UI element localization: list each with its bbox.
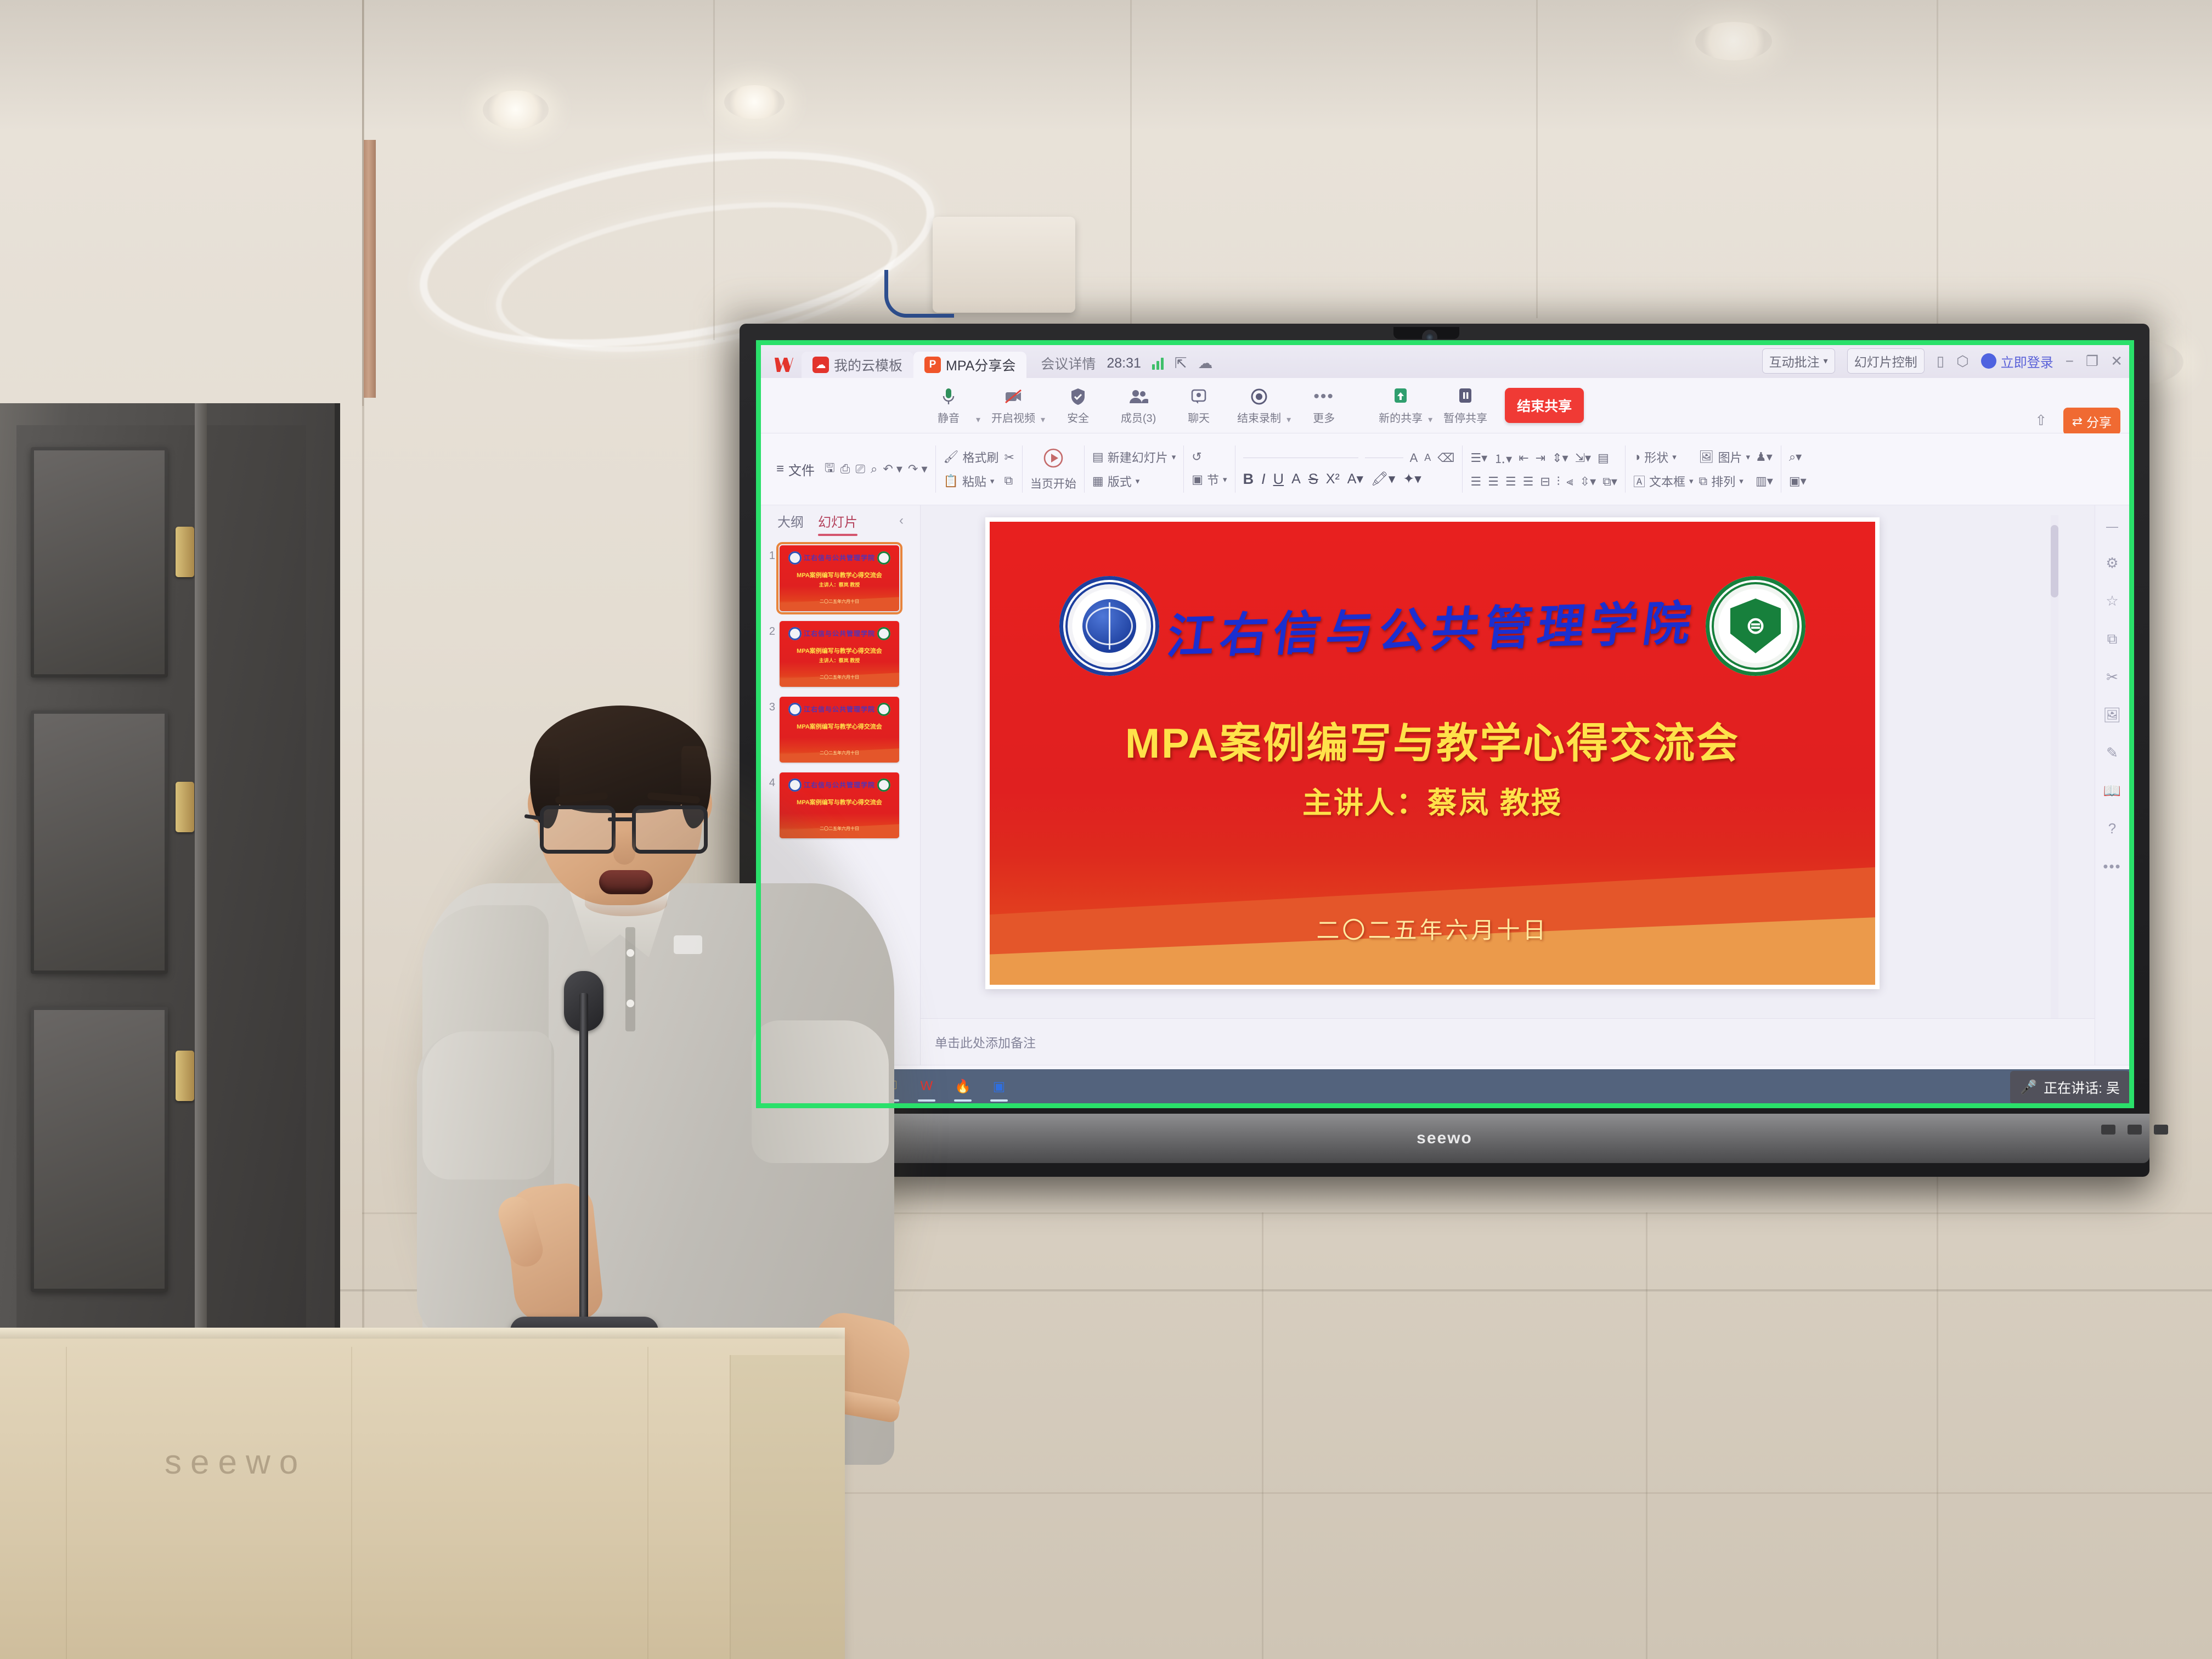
titlebar-right-controls: 互动批注 ▾ 幻灯片控制 ▯ ⬡ 立即登录 − ❐ ✕ bbox=[1762, 348, 2123, 374]
thumbnail-number: 2 bbox=[763, 621, 775, 638]
shape-label: 形状 bbox=[1644, 448, 1668, 466]
reset-icon[interactable]: ↺ bbox=[1192, 450, 1227, 464]
mini-school-name: 江右信与公共管理学院 bbox=[804, 553, 875, 562]
wall-trim-strip bbox=[364, 140, 376, 398]
chevron-down-icon: ▾ bbox=[1739, 476, 1743, 486]
chevron-down-icon: ▾ bbox=[1136, 476, 1140, 486]
mini-slide: 江右信与公共管理学院 MPA案例编写与教学心得交流会 二〇二五年六月十日 bbox=[780, 697, 899, 763]
vertical-scrollbar-thumb[interactable] bbox=[2051, 525, 2058, 597]
ceiling-downlight-4 bbox=[1695, 22, 1772, 60]
speaking-indicator-tooltip: 🎤 正在讲话: 吴 bbox=[2010, 1071, 2130, 1104]
ai-assist-icon[interactable]: ✎ bbox=[2106, 744, 2118, 761]
door-inner-panel bbox=[16, 425, 306, 1330]
meeting-record-button[interactable]: 结束录制 bbox=[1231, 386, 1288, 425]
background-icon[interactable]: ▥▾ bbox=[1756, 474, 1773, 488]
meeting-video-button[interactable]: 开启视频 bbox=[985, 386, 1042, 425]
mini-logos: 江右信与公共管理学院 bbox=[780, 778, 899, 792]
end-share-button[interactable]: 结束共享 bbox=[1505, 388, 1584, 423]
wps-icon[interactable]: W bbox=[916, 1075, 938, 1097]
mini-logos: 江右信与公共管理学院 bbox=[780, 703, 899, 716]
slide-speaker: 主讲人：蔡岚 教授 bbox=[990, 778, 1875, 822]
dictionary-icon[interactable]: 📖 bbox=[2103, 782, 2121, 799]
start-show-button[interactable]: 当页开始 bbox=[1030, 447, 1076, 492]
cube-icon[interactable]: ⬡ bbox=[1956, 353, 1969, 370]
mini-date: 二〇二五年六月十日 bbox=[780, 674, 899, 680]
file-menu-label: 文件 bbox=[788, 460, 815, 479]
text-shadow-button[interactable]: A bbox=[1291, 471, 1301, 487]
mini-slide: 江右信与公共管理学院 MPA案例编写与教学心得交流会 主讲人：蔡岚 教授 二〇二… bbox=[780, 545, 899, 611]
notes-pane[interactable]: 单击此处添加备注 bbox=[921, 1018, 2095, 1065]
display-cable bbox=[884, 270, 954, 318]
door-hinge-top bbox=[176, 527, 194, 577]
display-port bbox=[2101, 1125, 2115, 1135]
display-port bbox=[2128, 1125, 2142, 1135]
scissors-icon[interactable]: ✂ bbox=[1004, 450, 1014, 465]
ceiling-downlight-1 bbox=[483, 91, 549, 129]
font-grow-icon[interactable]: A bbox=[1410, 451, 1418, 465]
thumbnail-number: 1 bbox=[763, 545, 775, 562]
thumbnail-slide-3[interactable]: 江右信与公共管理学院 MPA案例编写与教学心得交流会 二〇二五年六月十日 bbox=[780, 697, 899, 763]
microphone-gooseneck bbox=[579, 993, 588, 1350]
annotate-button[interactable]: 互动批注 ▾ bbox=[1762, 348, 1835, 374]
align-text-icon[interactable]: ▤ bbox=[1598, 451, 1609, 465]
glasses-lens-right bbox=[632, 805, 708, 854]
meeting-chat-label: 聊天 bbox=[1188, 409, 1210, 425]
wall-tile-seam bbox=[1536, 0, 1538, 318]
picture-label: 图片 bbox=[1718, 448, 1742, 466]
meeting-mute-button[interactable]: 静音 bbox=[920, 386, 977, 425]
signal-bars-icon bbox=[1152, 357, 1164, 370]
slide-title: MPA案例编写与教学心得交流会 bbox=[990, 709, 1875, 770]
wps-logo-icon[interactable] bbox=[771, 353, 796, 376]
notes-placeholder: 单击此处添加备注 bbox=[935, 1032, 1036, 1051]
glasses-bridge bbox=[608, 817, 633, 821]
layout-icon: ▦ bbox=[1092, 474, 1104, 488]
door-moulding-bottom bbox=[31, 1007, 168, 1292]
tab-slides[interactable]: 幻灯片 bbox=[818, 511, 857, 531]
wall-tile-seam bbox=[713, 0, 715, 340]
microphone-icon bbox=[941, 386, 956, 407]
text-direction-icon[interactable]: ⇲▾ bbox=[1575, 451, 1591, 465]
share-icon: ⇄ bbox=[2072, 414, 2083, 429]
section-label: 节 bbox=[1207, 471, 1219, 488]
avatar bbox=[1981, 353, 1996, 369]
layout-button[interactable]: ▦ 版式 ▾ bbox=[1092, 472, 1176, 490]
podium-wood-grain bbox=[730, 1355, 731, 1659]
new-slide-icon: ▤ bbox=[1092, 450, 1104, 464]
podium-wood-grain bbox=[66, 1347, 67, 1659]
shield-seal-icon bbox=[877, 627, 890, 640]
microphone-icon: 🎤 bbox=[2020, 1080, 2037, 1096]
align-center-icon[interactable]: ☰ bbox=[1488, 475, 1499, 489]
presenter-placket bbox=[625, 927, 635, 1031]
chat-icon bbox=[1190, 386, 1207, 407]
new-slide-label: 新建幻灯片 bbox=[1108, 448, 1168, 466]
globe-seal-icon bbox=[788, 778, 802, 792]
font-size-box[interactable] bbox=[1365, 458, 1403, 458]
font-name-size-row: A A ⌫ bbox=[1243, 451, 1455, 465]
meeting-members-button[interactable]: 成员(3) bbox=[1110, 386, 1167, 425]
shield-icon bbox=[1070, 386, 1086, 407]
ribbon-group-insert: ◑ 形状 ▾ 🄰 文本框 ▾ 🖼 图片 bbox=[1626, 437, 1781, 501]
play-circle-icon bbox=[1042, 447, 1064, 472]
mini-logos: 江右信与公共管理学院 bbox=[780, 627, 899, 640]
presenter-mouth bbox=[599, 870, 653, 894]
mini-date: 二〇二五年六月十日 bbox=[780, 599, 899, 605]
magic-wand-icon[interactable]: ✂ bbox=[2106, 669, 2118, 686]
wall-tile-seam bbox=[1262, 1212, 1263, 1659]
shape-icon: ◑ bbox=[1633, 450, 1640, 464]
chevron-down-icon[interactable]: ▾ bbox=[976, 414, 980, 425]
format-painter-button[interactable]: 🖌 格式刷 bbox=[944, 448, 999, 466]
presenter-nose bbox=[613, 830, 635, 865]
ribbon-group-find: ⌕▾ ▣▾ bbox=[1781, 437, 1814, 501]
shape-button[interactable]: ◑ 形状 ▾ bbox=[1633, 448, 1694, 466]
slide-content: 江右信与公共管理学院 ⊜ MPA案例编写与教学心得交流会 主讲人：蔡岚 教授 二… bbox=[990, 522, 1875, 985]
columns-icon[interactable]: ⫶ bbox=[1557, 475, 1560, 489]
font-color-icon[interactable]: A▾ bbox=[1347, 471, 1363, 487]
chevron-down-icon: ▾ bbox=[1672, 452, 1677, 462]
presenter-chin bbox=[585, 892, 667, 916]
new-share-icon bbox=[1393, 386, 1408, 407]
align-right-icon[interactable]: ☰ bbox=[1505, 475, 1516, 489]
globe-seal-icon bbox=[788, 703, 802, 716]
globe-seal-icon bbox=[1059, 576, 1159, 676]
ribbon-group-font: A A ⌫ B I U A S X² A▾ 🖍▾ bbox=[1235, 437, 1463, 501]
thumbnail-row[interactable]: 2 江右信与公共管理学院 MPA案例编写与教学心得交流会 bbox=[761, 616, 920, 692]
tab-cloud-template[interactable]: ☁ 我的云模板 bbox=[802, 352, 913, 378]
paste-label: 粘贴 bbox=[962, 472, 986, 490]
slide-editor: 江右信与公共管理学院 ⊜ MPA案例编写与教学心得交流会 主讲人：蔡岚 教授 二… bbox=[921, 505, 2095, 1065]
display-brand-label: seewo bbox=[1417, 1129, 1472, 1148]
thumbnail-list: 1 江右信与公共管理学院 MPA案例编写与教学心得交流会 bbox=[761, 536, 920, 843]
share-button[interactable]: ⇄ 分享 bbox=[2063, 408, 2120, 435]
tab-mpa-presentation[interactable]: P MPA分享会 bbox=[913, 352, 1026, 378]
arrange-button[interactable]: ⧉ 排列 ▾ bbox=[1699, 472, 1750, 490]
picture-icon: 🖼 bbox=[1699, 450, 1714, 464]
door-hinge-mid bbox=[176, 782, 194, 832]
meeting-new-share-button[interactable]: 新的共享 bbox=[1372, 386, 1429, 425]
thumbnail-row[interactable]: 3 江右信与公共管理学院 MPA案例编写与教学心得交流会 bbox=[761, 692, 920, 768]
meeting-members-label: 成员(3) bbox=[1121, 409, 1156, 425]
meeting-security-label: 安全 bbox=[1067, 409, 1089, 425]
door-moulding-mid bbox=[31, 710, 168, 974]
chevron-down-icon: ▾ bbox=[1172, 452, 1176, 462]
globe-graphic bbox=[1082, 599, 1136, 653]
collapse-rail-icon[interactable]: — bbox=[2106, 520, 2118, 534]
mini-title: MPA案例编写与教学心得交流会 bbox=[780, 798, 899, 806]
wall-seam-left bbox=[0, 0, 364, 406]
mini-title: MPA案例编写与教学心得交流会 bbox=[780, 571, 899, 579]
slide-control-button[interactable]: 幻灯片控制 bbox=[1847, 348, 1925, 374]
more-dots-icon: ••• bbox=[1313, 386, 1334, 407]
help-icon[interactable]: ? bbox=[2108, 820, 2116, 837]
tab-outline[interactable]: 大纲 bbox=[777, 511, 804, 531]
meeting-details-link[interactable]: 会议详情 bbox=[1041, 353, 1096, 373]
chevron-down-icon[interactable]: ▾ bbox=[1428, 414, 1432, 425]
login-button[interactable]: 立即登录 bbox=[1981, 352, 2053, 371]
podium-wood-grain bbox=[647, 1347, 648, 1659]
display-camera-bar bbox=[1393, 327, 1459, 339]
ribbon-group-start-show: 当页开始 bbox=[1023, 437, 1084, 501]
glasses-lens-left bbox=[540, 805, 616, 854]
mini-school-name: 江右信与公共管理学院 bbox=[804, 780, 875, 789]
mobile-icon[interactable]: ▯ bbox=[1937, 353, 1944, 370]
hamburger-icon: ≡ bbox=[776, 461, 784, 477]
align-left-icon[interactable]: ☰ bbox=[1470, 475, 1481, 489]
wall-tile-seam bbox=[1130, 0, 1132, 329]
wps-ribbon: ≡ 文件 🖫 ⎙ ⎚ ⌕ ↶ ▾ ↷ ▾ 🖌 格式刷 bbox=[761, 433, 2129, 505]
textbox-label: 文本框 bbox=[1649, 472, 1685, 490]
shield-seal-icon bbox=[877, 703, 890, 716]
meeting-toolbar: 静音 ▾ 开启视频 ▾ 安全 bbox=[761, 378, 2129, 433]
section-icon: ▣ bbox=[1192, 472, 1203, 487]
mini-logos: 江右信与公共管理学院 bbox=[780, 551, 899, 565]
line-spacing-icon[interactable]: ⇕▾ bbox=[1552, 451, 1568, 465]
room-door bbox=[0, 403, 340, 1352]
presenter-shirt-logo bbox=[674, 935, 702, 954]
smartart-icon[interactable]: ⧉▾ bbox=[1602, 475, 1617, 489]
presenter-left-sleeve bbox=[422, 1031, 551, 1180]
layout-label: 版式 bbox=[1108, 472, 1132, 490]
restore-button[interactable]: ❐ bbox=[2086, 353, 2098, 370]
superscript-button[interactable]: X² bbox=[1326, 471, 1340, 487]
section-button[interactable]: ▣ 节 ▾ bbox=[1192, 471, 1227, 488]
tab-cloud-template-label: 我的云模板 bbox=[834, 355, 902, 375]
wall-mount-box bbox=[933, 217, 1075, 313]
shield-graphic: ⊜ bbox=[1730, 599, 1781, 653]
globe-seal-icon bbox=[788, 627, 802, 640]
meeting-pause-share-label: 暂停共享 bbox=[1443, 409, 1487, 425]
align-justify-icon[interactable]: ☰ bbox=[1523, 475, 1534, 489]
media-icon[interactable]: ♟▾ bbox=[1756, 450, 1773, 464]
slide-school-name: 江右信与公共管理学院 bbox=[1154, 584, 1711, 667]
upload-cloud-icon[interactable]: ⇧ bbox=[2035, 412, 2047, 429]
ribbon-group-slides: ▤ 新建幻灯片 ▾ ▦ 版式 ▾ bbox=[1085, 437, 1183, 501]
meeting-timer: 28:31 bbox=[1107, 356, 1141, 371]
meeting-security-button[interactable]: 安全 bbox=[1049, 386, 1107, 425]
podium-side-panel bbox=[730, 1355, 845, 1659]
display-bottom-bezel: seewo bbox=[740, 1114, 2149, 1163]
meeting-mute-label: 静音 bbox=[938, 409, 960, 425]
close-button[interactable]: ✕ bbox=[2111, 353, 2123, 370]
thumbnail-slide-1[interactable]: 江右信与公共管理学院 MPA案例编写与教学心得交流会 主讲人：蔡岚 教授 二〇二… bbox=[780, 545, 899, 611]
ppt-file-icon: P bbox=[924, 357, 941, 373]
door-moulding-top bbox=[31, 447, 168, 678]
mini-date: 二〇二五年六月十日 bbox=[780, 750, 899, 756]
record-stop-icon bbox=[1250, 386, 1268, 407]
layout-swap-icon[interactable]: ⧉ bbox=[2107, 630, 2118, 648]
mini-school-name: 江右信与公共管理学院 bbox=[804, 704, 875, 714]
find-icon[interactable]: ⌕ bbox=[871, 462, 877, 476]
distribute-icon[interactable]: ⊟ bbox=[1540, 475, 1550, 489]
paste-button[interactable]: 📋 粘贴 ▾ bbox=[944, 472, 999, 490]
bullets-icon[interactable]: ☰▾ bbox=[1470, 451, 1487, 465]
mini-school-name: 江右信与公共管理学院 bbox=[804, 629, 875, 638]
numbering-icon[interactable]: ⒈▾ bbox=[1494, 449, 1512, 467]
meeting-video-label: 开启视频 bbox=[991, 409, 1035, 425]
podium-wood-grain bbox=[351, 1347, 352, 1659]
chevron-down-icon: ▾ bbox=[1824, 356, 1828, 366]
share-button-label: 分享 bbox=[2086, 412, 2112, 431]
select-icon[interactable]: ▣▾ bbox=[1789, 474, 1807, 488]
chevron-down-icon: ▾ bbox=[1689, 476, 1694, 486]
window-title-bar: ☁ 我的云模板 P MPA分享会 会议详情 28:31 ⇱ ☁ 互动批注 bbox=[761, 345, 2129, 378]
slide-header-logos: 江右信与公共管理学院 ⊜ bbox=[990, 573, 1875, 679]
chevron-down-icon: ▾ bbox=[1223, 475, 1227, 484]
chevron-down-icon[interactable]: ▾ bbox=[1286, 414, 1291, 425]
print-preview-icon[interactable]: ⎚ bbox=[855, 462, 865, 476]
presenter-right-sleeve bbox=[752, 1020, 889, 1163]
strikethrough-button[interactable]: S bbox=[1308, 471, 1318, 488]
chevron-down-icon: ▾ bbox=[990, 476, 995, 486]
indent-dec-icon[interactable]: ⇤ bbox=[1519, 451, 1528, 465]
meeting-record-label: 结束录制 bbox=[1237, 409, 1281, 425]
people-icon bbox=[1128, 386, 1148, 407]
current-slide-canvas[interactable]: 江右信与公共管理学院 ⊜ MPA案例编写与教学心得交流会 主讲人：蔡岚 教授 二… bbox=[985, 517, 1880, 989]
picture-button[interactable]: 🖼 图片 ▾ bbox=[1699, 448, 1750, 466]
indent-icon[interactable]: ⫷ bbox=[1566, 475, 1573, 489]
wps-status-bar: / 4 ◪ Office 主题 ✨ 智能美化 ▾ ☰ 备注 ▾ 🗨 批注 ▢ ▩… bbox=[761, 1065, 2129, 1069]
globe-seal-icon bbox=[788, 551, 802, 565]
pause-share-icon bbox=[1458, 386, 1473, 407]
text-effect-icon[interactable]: ✦▾ bbox=[1403, 471, 1421, 487]
paste-icon: 📋 bbox=[944, 474, 958, 488]
mini-speaker: 主讲人：蔡岚 教授 bbox=[780, 657, 899, 664]
spacing-icon[interactable]: ⇳▾ bbox=[1580, 475, 1596, 489]
mini-slide: 江右信与公共管理学院 MPA案例编写与教学心得交流会 主讲人：蔡岚 教授 二〇二… bbox=[780, 621, 899, 687]
meeting-chat-button[interactable]: 聊天 bbox=[1170, 386, 1227, 425]
indent-inc-icon[interactable]: ⇥ bbox=[1536, 451, 1545, 465]
shield-seal-icon: ⊜ bbox=[1706, 576, 1805, 676]
desktop-screen: ☁ 我的云模板 P MPA分享会 会议详情 28:31 ⇱ ☁ 互动批注 bbox=[756, 340, 2134, 1108]
presenter-shirt-button bbox=[627, 949, 634, 957]
ribbon-group-file: ≡ 文件 🖫 ⎙ ⎚ ⌕ ↶ ▾ ↷ ▾ bbox=[769, 437, 935, 501]
format-painter-label: 格式刷 bbox=[962, 448, 998, 466]
paragraph-row-1: ☰▾ ⒈▾ ⇤ ⇥ ⇕▾ ⇲▾ ▤ bbox=[1470, 449, 1617, 467]
arrange-icon: ⧉ bbox=[1699, 474, 1708, 488]
thumbnail-number: 3 bbox=[763, 697, 775, 714]
textbox-button[interactable]: 🄰 文本框 ▾ bbox=[1633, 472, 1694, 490]
meeting-more-label: 更多 bbox=[1313, 409, 1335, 425]
right-tool-rail: — ⚙ ☆ ⧉ ✂ 🖼 ✎ 📖 ? ••• bbox=[2095, 505, 2129, 1065]
presenter-shirt-button bbox=[627, 1000, 634, 1007]
annotate-button-label: 互动批注 bbox=[1769, 352, 1820, 370]
display-port bbox=[2154, 1125, 2168, 1135]
door-edge bbox=[195, 403, 207, 1352]
camera-off-icon bbox=[1004, 386, 1023, 407]
wall-tile-seam bbox=[1646, 1212, 1647, 1659]
display-ports bbox=[2101, 1125, 2168, 1135]
arrange-label: 排列 bbox=[1711, 472, 1735, 490]
meeting-pause-share-button[interactable]: 暂停共享 bbox=[1437, 386, 1494, 425]
photo-of-meeting-room: ☁ 我的云模板 P MPA分享会 会议详情 28:31 ⇱ ☁ 互动批注 bbox=[0, 0, 2212, 1659]
font-name-box[interactable] bbox=[1243, 458, 1358, 458]
ribbon-group-paragraph: ☰▾ ⒈▾ ⇤ ⇥ ⇕▾ ⇲▾ ▤ ☰ ☰ ☰ ☰ bbox=[1463, 437, 1625, 501]
thumbnail-number: 4 bbox=[763, 772, 775, 789]
chevron-down-icon: ▾ bbox=[1746, 452, 1750, 462]
undo-icon[interactable]: ↶ ▾ bbox=[883, 462, 902, 476]
highlight-icon[interactable]: 🖍▾ bbox=[1371, 471, 1395, 487]
copy-icon[interactable]: ⧉ bbox=[1004, 473, 1014, 488]
new-slide-button[interactable]: ▤ 新建幻灯片 ▾ bbox=[1092, 448, 1176, 466]
meeting-app-icon[interactable]: ▣ bbox=[988, 1075, 1010, 1097]
popout-icon[interactable]: ⇱ bbox=[1175, 355, 1187, 372]
format-painter-icon: 🖌 bbox=[944, 450, 959, 464]
mini-speaker: 主讲人：蔡岚 教授 bbox=[780, 581, 899, 588]
ceiling-downlight-2 bbox=[724, 85, 785, 119]
font-shrink-icon[interactable]: A bbox=[1424, 452, 1431, 464]
save-icon[interactable]: 🖫 bbox=[825, 459, 835, 479]
wps-presentation-window: ☁ 我的云模板 P MPA分享会 会议详情 28:31 ⇱ ☁ 互动批注 bbox=[761, 345, 2129, 1069]
textbox-icon: 🄰 bbox=[1633, 472, 1645, 490]
start-show-label: 当页开始 bbox=[1030, 475, 1076, 492]
meeting-new-share-label: 新的共享 bbox=[1379, 409, 1423, 425]
meeting-more-button[interactable]: ••• 更多 bbox=[1295, 386, 1352, 425]
clear-format-icon[interactable]: ⌫ bbox=[1437, 451, 1454, 465]
font-format-row: B I U A S X² A▾ 🖍▾ ✦▾ bbox=[1243, 471, 1455, 488]
search-icon[interactable]: ⌕▾ bbox=[1789, 450, 1807, 464]
browser-icon[interactable]: 🔥 bbox=[952, 1075, 974, 1097]
login-label: 立即登录 bbox=[2001, 352, 2053, 371]
ribbon-group-clipboard: 🖌 格式刷 📋 粘贴 ▾ ✂ ⧉ bbox=[936, 437, 1022, 501]
thumbnail-row[interactable]: 1 江右信与公共管理学院 MPA案例编写与教学心得交流会 bbox=[761, 540, 920, 616]
wooden-podium bbox=[0, 1339, 845, 1659]
slide-date: 二〇二五年六月十日 bbox=[990, 912, 1875, 945]
more-dots-icon[interactable]: ••• bbox=[2103, 858, 2121, 875]
redo-icon[interactable]: ↷ ▾ bbox=[908, 462, 928, 476]
template-icon: ☁ bbox=[812, 357, 829, 373]
settings-sliders-icon[interactable]: ⚙ bbox=[2106, 555, 2118, 572]
minimize-button[interactable]: − bbox=[2066, 353, 2074, 370]
podium-brand-label: seewo bbox=[165, 1443, 307, 1482]
italic-button[interactable]: I bbox=[1261, 471, 1266, 488]
meeting-info-strip: 会议详情 28:31 ⇱ ☁ bbox=[1041, 353, 1212, 378]
workspace: 大纲 幻灯片 ‹ 1 江右信与 bbox=[761, 505, 2129, 1065]
image-edit-icon[interactable]: 🖼 bbox=[2103, 707, 2121, 724]
pane-tabs: 大纲 幻灯片 ‹ bbox=[761, 505, 920, 536]
mini-title: MPA案例编写与教学心得交流会 bbox=[780, 722, 899, 731]
chevron-left-icon[interactable]: ‹ bbox=[899, 513, 904, 528]
slide-control-label: 幻灯片控制 bbox=[1854, 352, 1917, 370]
paragraph-row-2: ☰ ☰ ☰ ☰ ⊟ ⫶ ⫷ ⇳▾ ⧉▾ bbox=[1470, 475, 1617, 489]
print-icon[interactable]: ⎙ bbox=[840, 462, 850, 476]
bold-button[interactable]: B bbox=[1243, 471, 1254, 488]
door-hinge-bottom bbox=[176, 1051, 194, 1101]
cloud-icon: ☁ bbox=[1198, 355, 1213, 372]
mini-title: MPA案例编写与教学心得交流会 bbox=[780, 646, 899, 655]
thumbnail-slide-2[interactable]: 江右信与公共管理学院 MPA案例编写与教学心得交流会 主讲人：蔡岚 教授 二〇二… bbox=[780, 621, 899, 687]
shield-seal-icon bbox=[877, 551, 890, 565]
underline-button[interactable]: U bbox=[1273, 471, 1284, 488]
shield-seal-icon bbox=[877, 778, 890, 792]
wall-tile-seam bbox=[845, 1492, 2212, 1494]
speaking-indicator-label: 正在讲话: 吴 bbox=[2044, 1077, 2120, 1097]
ribbon-group-section: ↺ ▣ 节 ▾ bbox=[1184, 437, 1234, 501]
windows-taskbar: ⊞ ⌕ ❏ 🗀 W 🔥 ▣ ︿ 🎤 ⌨ 英 ▦ bbox=[761, 1069, 2134, 1103]
tab-mpa-presentation-label: MPA分享会 bbox=[946, 355, 1015, 375]
file-menu-button[interactable]: ≡ 文件 bbox=[776, 460, 819, 479]
chevron-down-icon[interactable]: ▾ bbox=[1041, 414, 1045, 425]
star-icon[interactable]: ☆ bbox=[2106, 592, 2118, 610]
